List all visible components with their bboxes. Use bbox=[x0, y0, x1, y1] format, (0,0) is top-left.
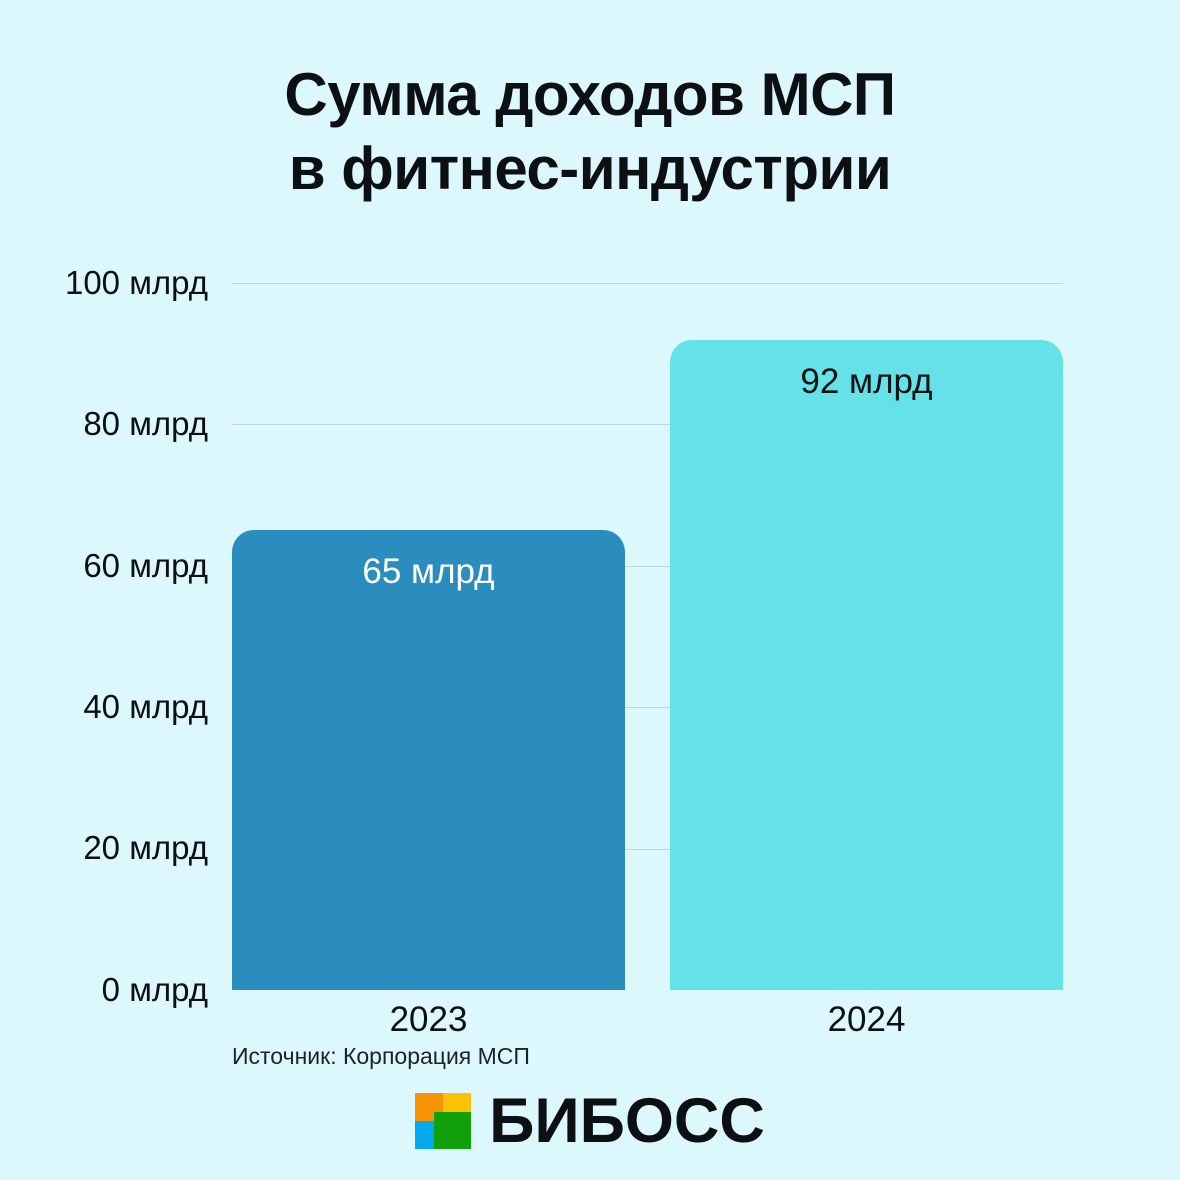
biboss-logo-icon bbox=[415, 1093, 471, 1149]
source-note: Источник: Корпорация МСП bbox=[232, 1042, 530, 1070]
bar-value-label-2023: 65 млрд bbox=[232, 552, 625, 592]
plot-area: 65 млрд 92 млрд bbox=[232, 283, 1063, 990]
x-axis-label-2023: 2023 bbox=[232, 1000, 625, 1040]
x-axis-label-2024: 2024 bbox=[670, 1000, 1063, 1040]
brand-logo: БИБОСС bbox=[0, 1088, 1180, 1154]
bar-chart: 65 млрд 92 млрд 100 млрд 80 млрд 60 млрд… bbox=[0, 0, 1180, 1180]
infographic-canvas: Сумма доходов МСП в фитнес-индустрии 65 … bbox=[0, 0, 1180, 1180]
bar-value-label-2024: 92 млрд bbox=[670, 362, 1063, 402]
y-axis-label-100: 100 млрд bbox=[0, 266, 208, 299]
bar-2024[interactable]: 92 млрд bbox=[670, 340, 1063, 990]
logo-square-green bbox=[434, 1112, 471, 1149]
gridline-100 bbox=[232, 283, 1063, 284]
y-axis-label-0: 0 млрд bbox=[0, 973, 208, 1006]
y-axis-label-60: 60 млрд bbox=[0, 549, 208, 582]
bar-2023[interactable]: 65 млрд bbox=[232, 530, 625, 990]
y-axis-label-80: 80 млрд bbox=[0, 407, 208, 440]
y-axis-label-20: 20 млрд bbox=[0, 831, 208, 864]
brand-logo-text: БИБОСС bbox=[489, 1088, 765, 1154]
y-axis-label-40: 40 млрд bbox=[0, 690, 208, 723]
